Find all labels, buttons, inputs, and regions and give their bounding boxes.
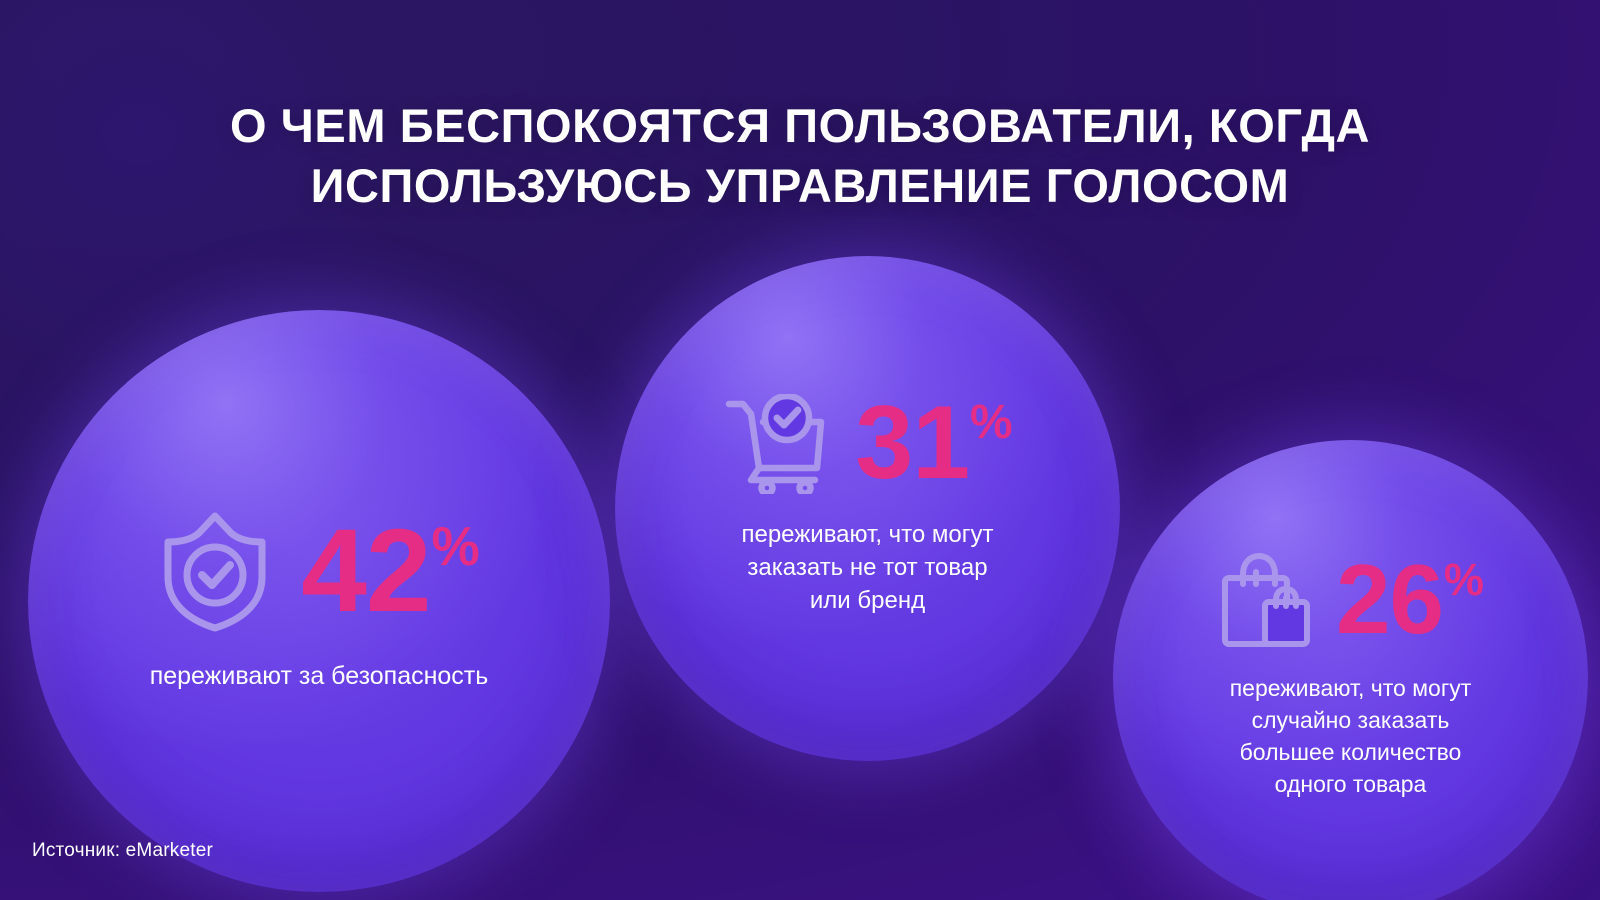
- stat-value-26: 26 %: [1336, 554, 1483, 644]
- page-title-line-1: О ЧЕМ БЕСПОКОЯТСЯ ПОЛЬЗОВАТЕЛИ, КОГДА: [0, 96, 1600, 156]
- stat-value-42: 42 %: [301, 517, 479, 626]
- stat-value-31: 31 %: [855, 396, 1011, 492]
- page-title-line-2: ИСПОЛЬЗУЮСЬ УПРАВЛЕНИЕ ГОЛОСОМ: [0, 156, 1600, 216]
- source-label: Источник: eMarketer: [32, 840, 213, 862]
- stat-caption: переживают, что могут случайно заказать …: [1230, 672, 1472, 800]
- shopping-cart-check-icon: [723, 394, 829, 494]
- shield-check-icon: [159, 509, 271, 633]
- percent-sign: %: [970, 399, 1012, 447]
- stat-row: 31 %: [723, 394, 1011, 494]
- infographic-canvas: О ЧЕМ БЕСПОКОЯТСЯ ПОЛЬЗОВАТЕЛИ, КОГДА ИС…: [0, 0, 1600, 900]
- percent-sign: %: [1444, 557, 1483, 602]
- stat-number: 42: [301, 517, 430, 626]
- page-title: О ЧЕМ БЕСПОКОЯТСЯ ПОЛЬЗОВАТЕЛИ, КОГДА ИС…: [0, 96, 1600, 216]
- stat-bubble-security: 42 % переживают за безопасность: [28, 310, 610, 892]
- shopping-bags-icon: [1218, 550, 1314, 650]
- stat-bubble-accidental-quantity: 26 % переживают, что могут случайно зака…: [1113, 440, 1588, 900]
- stat-bubble-wrong-product: 31 % переживают, что могут заказать не т…: [615, 256, 1120, 761]
- stat-number: 31: [855, 396, 969, 492]
- percent-sign: %: [432, 520, 479, 574]
- stat-row: 42 %: [159, 509, 479, 633]
- stat-number: 26: [1336, 554, 1443, 644]
- stat-caption: переживают, что могут заказать не тот то…: [741, 518, 993, 617]
- stat-row: 26 %: [1218, 550, 1483, 650]
- stat-caption: переживают за безопасность: [150, 659, 489, 693]
